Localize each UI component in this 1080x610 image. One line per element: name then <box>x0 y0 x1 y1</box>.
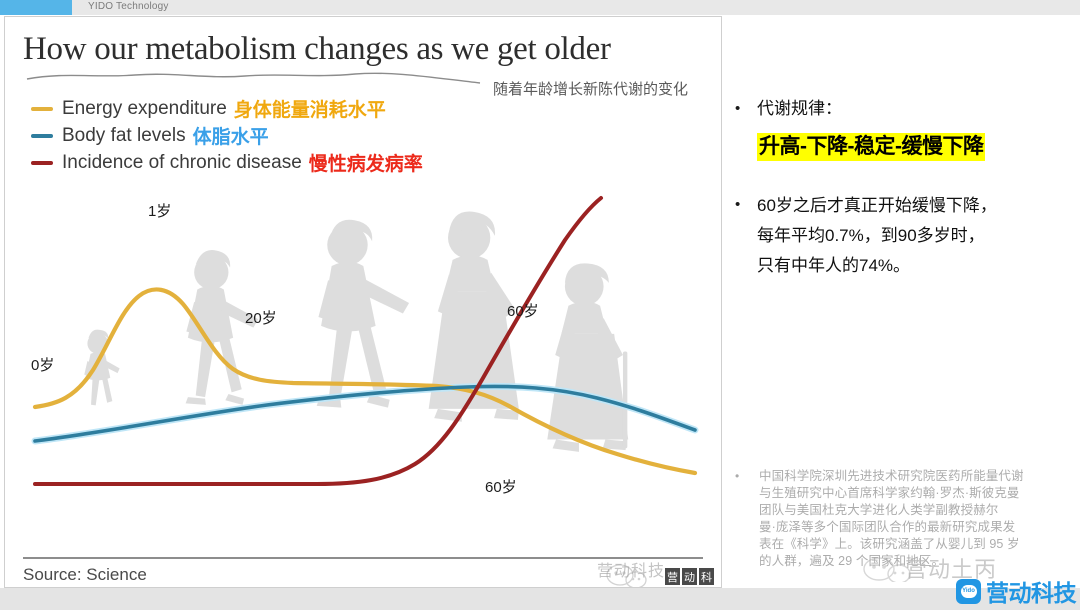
legend-item-disease: Incidence of chronic disease 慢性病发病率 <box>31 149 423 176</box>
legend-label-energy-cn: 身体能量消耗水平 <box>234 95 386 122</box>
metabolism-line-chart: 0岁 1岁 20岁 60岁 60岁 <box>17 192 707 522</box>
bullet-dot-1: • <box>735 95 757 123</box>
bullet2-line-1: 60岁之后才真正开始缓慢下降， <box>757 191 997 221</box>
bullet-label-metabolism-rule: 代谢规律： <box>757 95 842 123</box>
watermark-badge-2: 动 <box>682 568 697 585</box>
logo-text: 营动科技 <box>986 574 1076 608</box>
legend-label-bodyfat-en: Body fat levels <box>62 125 186 147</box>
infographic-subtitle: 随着年龄增长新陈代谢的变化 <box>493 78 688 99</box>
header-accent-triangle-icon <box>0 0 16 15</box>
legend-label-energy-en: Energy expenditure <box>62 98 227 120</box>
annotation-age-60-disease: 60岁 <box>485 476 517 497</box>
legend-swatch-bodyfat-icon <box>31 134 53 138</box>
footnote-bullet-dot: • <box>735 468 759 570</box>
title-underline-squiggle-icon <box>25 69 495 85</box>
bullet2-line-3: 只有中年人的74%。 <box>757 251 997 281</box>
footnote-line-3: 团队与美国杜克大学进化人类学副教授赫尔 <box>759 502 1024 519</box>
chart-svg <box>17 192 707 522</box>
logo-mark-icon: Yido <box>956 579 981 604</box>
legend-item-bodyfat: Body fat levels 体脂水平 <box>31 122 423 149</box>
bullet-item-metabolism-rule: • 代谢规律： <box>735 95 1065 123</box>
legend-label-disease-cn: 慢性病发病率 <box>309 149 423 176</box>
brand-title: YIDO Technology <box>88 1 169 12</box>
annotation-age-20: 20岁 <box>245 307 277 328</box>
company-logo: Yido 营动科技 <box>956 574 1076 608</box>
bullet2-line-2: 每年平均0.7%，到90多岁时， <box>757 221 997 251</box>
legend-swatch-disease-icon <box>31 161 53 165</box>
footnote-line-1: 中国科学院深圳先进技术研究院医药所能量代谢 <box>759 468 1024 485</box>
infographic-title: How our metabolism changes as we get old… <box>23 31 611 68</box>
bullet-item-decline-detail: • 60岁之后才真正开始缓慢下降， 每年平均0.7%，到90多岁时， 只有中年人… <box>735 191 1065 281</box>
bullet-dot-2: • <box>735 191 757 281</box>
highlight-metabolism-pattern: 升高-下降-稳定-缓慢下降 <box>757 133 985 161</box>
watermark-badge-3: 科 <box>699 568 714 585</box>
top-header-bar: YIDO Technology <box>0 0 1080 15</box>
source-label: Source: Science <box>23 565 147 585</box>
footnote-line-4: 曼·庞泽等多个国际团队合作的最新研究成果发 <box>759 519 1024 536</box>
footnote-line-2: 与生殖研究中心首席科学家约翰·罗杰·斯彼克曼 <box>759 485 1024 502</box>
annotation-age-0: 0岁 <box>31 354 54 375</box>
wechat-bubble-ghost-icon <box>862 556 914 582</box>
legend-label-bodyfat-cn: 体脂水平 <box>193 122 269 149</box>
wechat-bubble-icon <box>605 563 649 587</box>
legend-label-disease-en: Incidence of chronic disease <box>62 152 302 174</box>
footnote-line-5: 表在《科学》上。该研究涵盖了从婴儿到 95 岁 <box>759 536 1024 553</box>
legend-swatch-energy-icon <box>31 107 53 111</box>
right-text-column: • 代谢规律： 升高-下降-稳定-缓慢下降 • 60岁之后才真正开始缓慢下降， … <box>735 95 1065 283</box>
annotation-age-1: 1岁 <box>148 200 171 221</box>
infographic-panel: How our metabolism changes as we get old… <box>4 16 722 588</box>
series-chronic-disease-line <box>35 198 601 484</box>
bottom-footer-bar <box>0 588 1080 610</box>
watermark-badges: 营 动 科 <box>665 568 714 585</box>
walking-figures-silhouettes-icon <box>84 212 628 452</box>
footnote-block: • 中国科学院深圳先进技术研究院医药所能量代谢 与生殖研究中心首席科学家约翰·罗… <box>735 468 1065 570</box>
annotation-age-60-energy: 60岁 <box>507 300 539 321</box>
logo-mark-inner-label: Yido <box>961 585 977 598</box>
watermark-badge-1: 营 <box>665 568 680 585</box>
highlight-row: 升高-下降-稳定-缓慢下降 <box>757 133 1065 161</box>
chart-legend: Energy expenditure 身体能量消耗水平 Body fat lev… <box>31 95 423 176</box>
legend-item-energy: Energy expenditure 身体能量消耗水平 <box>31 95 423 122</box>
